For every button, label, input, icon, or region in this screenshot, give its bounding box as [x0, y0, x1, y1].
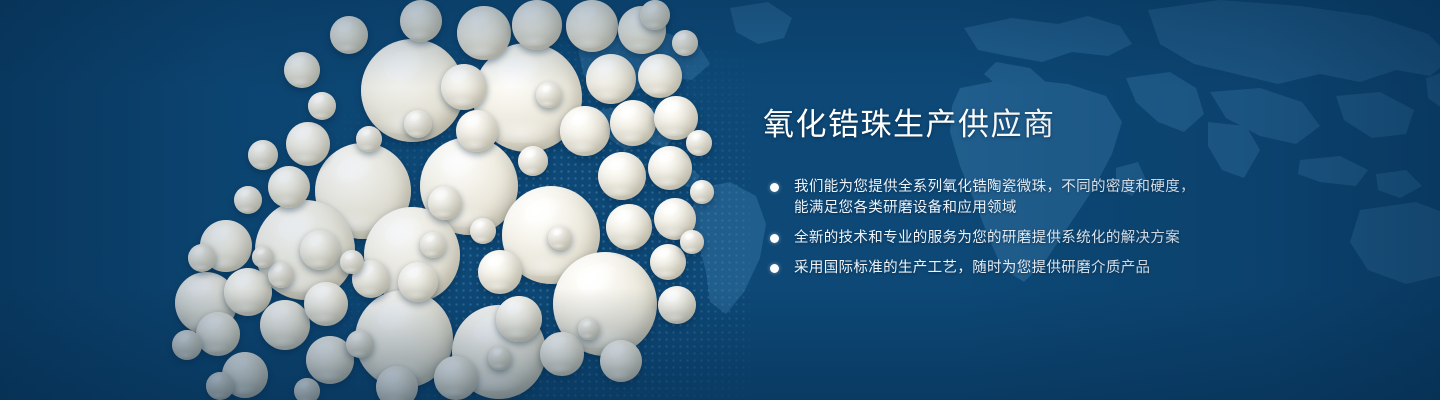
- hero-banner: 氧化锆珠生产供应商 我们能为您提供全系列氧化锆陶瓷微珠，不同的密度和硬度， 能满…: [0, 0, 1440, 400]
- vignette-overlay: [0, 0, 1440, 400]
